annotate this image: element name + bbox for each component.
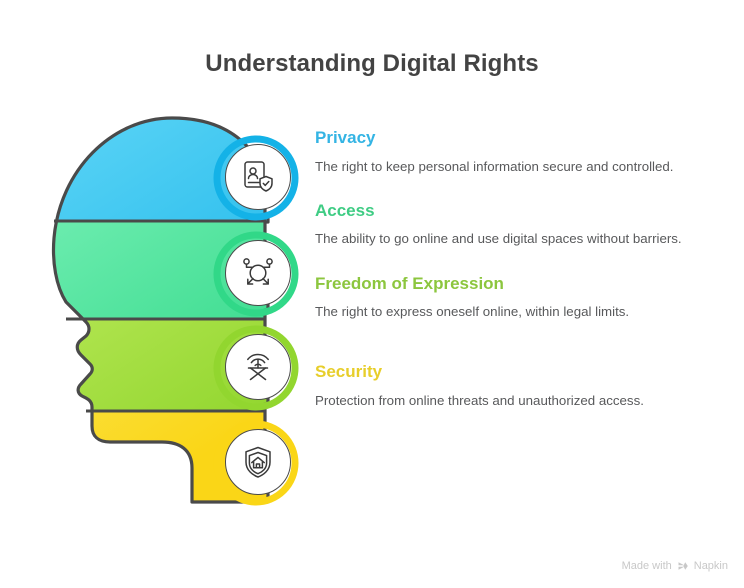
page-title: Understanding Digital Rights [0,50,744,78]
footer-credit[interactable]: Made with Napkin [622,560,728,572]
description-access: The ability to go online and use digital… [315,229,687,248]
napkin-chevron-logo-icon [677,560,689,572]
content-column: Privacy The right to keep personal infor… [315,128,715,431]
content-block-privacy: Privacy The right to keep personal infor… [315,128,715,176]
shield-home-icon [238,442,278,482]
id-card-shield-check-icon [238,157,278,197]
icon-badge-privacy[interactable] [225,144,291,210]
content-block-security: Security Protection from online threats … [315,362,715,410]
made-with-label: Made with [622,560,672,572]
heading-privacy: Privacy [315,128,715,148]
napkin-brand-label: Napkin [694,560,728,572]
heading-freedom-of-expression: Freedom of Expression [315,274,715,294]
content-block-access: Access The ability to go online and use … [315,201,715,249]
icon-badge-access[interactable] [225,240,291,306]
broadcast-antenna-waves-icon [238,347,278,387]
icon-badge-column [215,110,310,530]
heading-security: Security [315,362,715,382]
heading-access: Access [315,201,715,221]
content-block-freedom-of-expression: Freedom of Expression The right to expre… [315,274,715,322]
icon-badge-freedom-of-expression[interactable] [225,334,291,400]
description-freedom-of-expression: The right to express oneself online, wit… [315,302,687,321]
description-security: Protection from online threats and unaut… [315,391,687,410]
icon-badge-security[interactable] [225,429,291,495]
network-nodes-arrows-icon [238,253,278,293]
description-privacy: The right to keep personal information s… [315,157,687,176]
